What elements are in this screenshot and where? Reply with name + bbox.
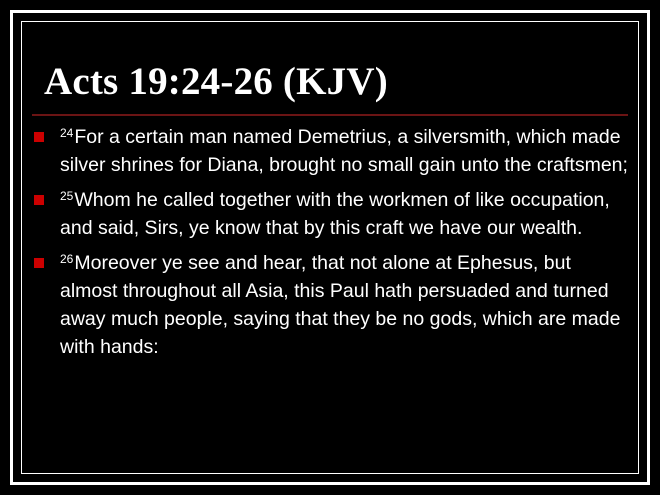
verse-text: For a certain man named Demetrius, a sil… xyxy=(60,126,628,176)
square-bullet-icon xyxy=(34,258,44,268)
verse-number: 24 xyxy=(60,126,74,140)
list-item: 25Whom he called together with the workm… xyxy=(30,186,630,242)
verse-text: Whom he called together with the workmen… xyxy=(60,189,610,239)
verse-number: 25 xyxy=(60,189,74,203)
page-title: Acts 19:24-26 (KJV) xyxy=(30,30,630,104)
square-bullet-icon xyxy=(34,195,44,205)
verse-list: 24For a certain man named Demetrius, a s… xyxy=(30,116,630,361)
list-item: 24For a certain man named Demetrius, a s… xyxy=(30,123,630,179)
presentation-slide: Acts 19:24-26 (KJV) 24For a certain man … xyxy=(0,0,660,495)
square-bullet-icon xyxy=(34,132,44,142)
list-item: 26Moreover ye see and hear, that not alo… xyxy=(30,249,630,361)
verse-number: 26 xyxy=(60,252,74,266)
slide-content: Acts 19:24-26 (KJV) 24For a certain man … xyxy=(30,30,630,465)
verse-text: Moreover ye see and hear, that not alone… xyxy=(60,252,620,358)
